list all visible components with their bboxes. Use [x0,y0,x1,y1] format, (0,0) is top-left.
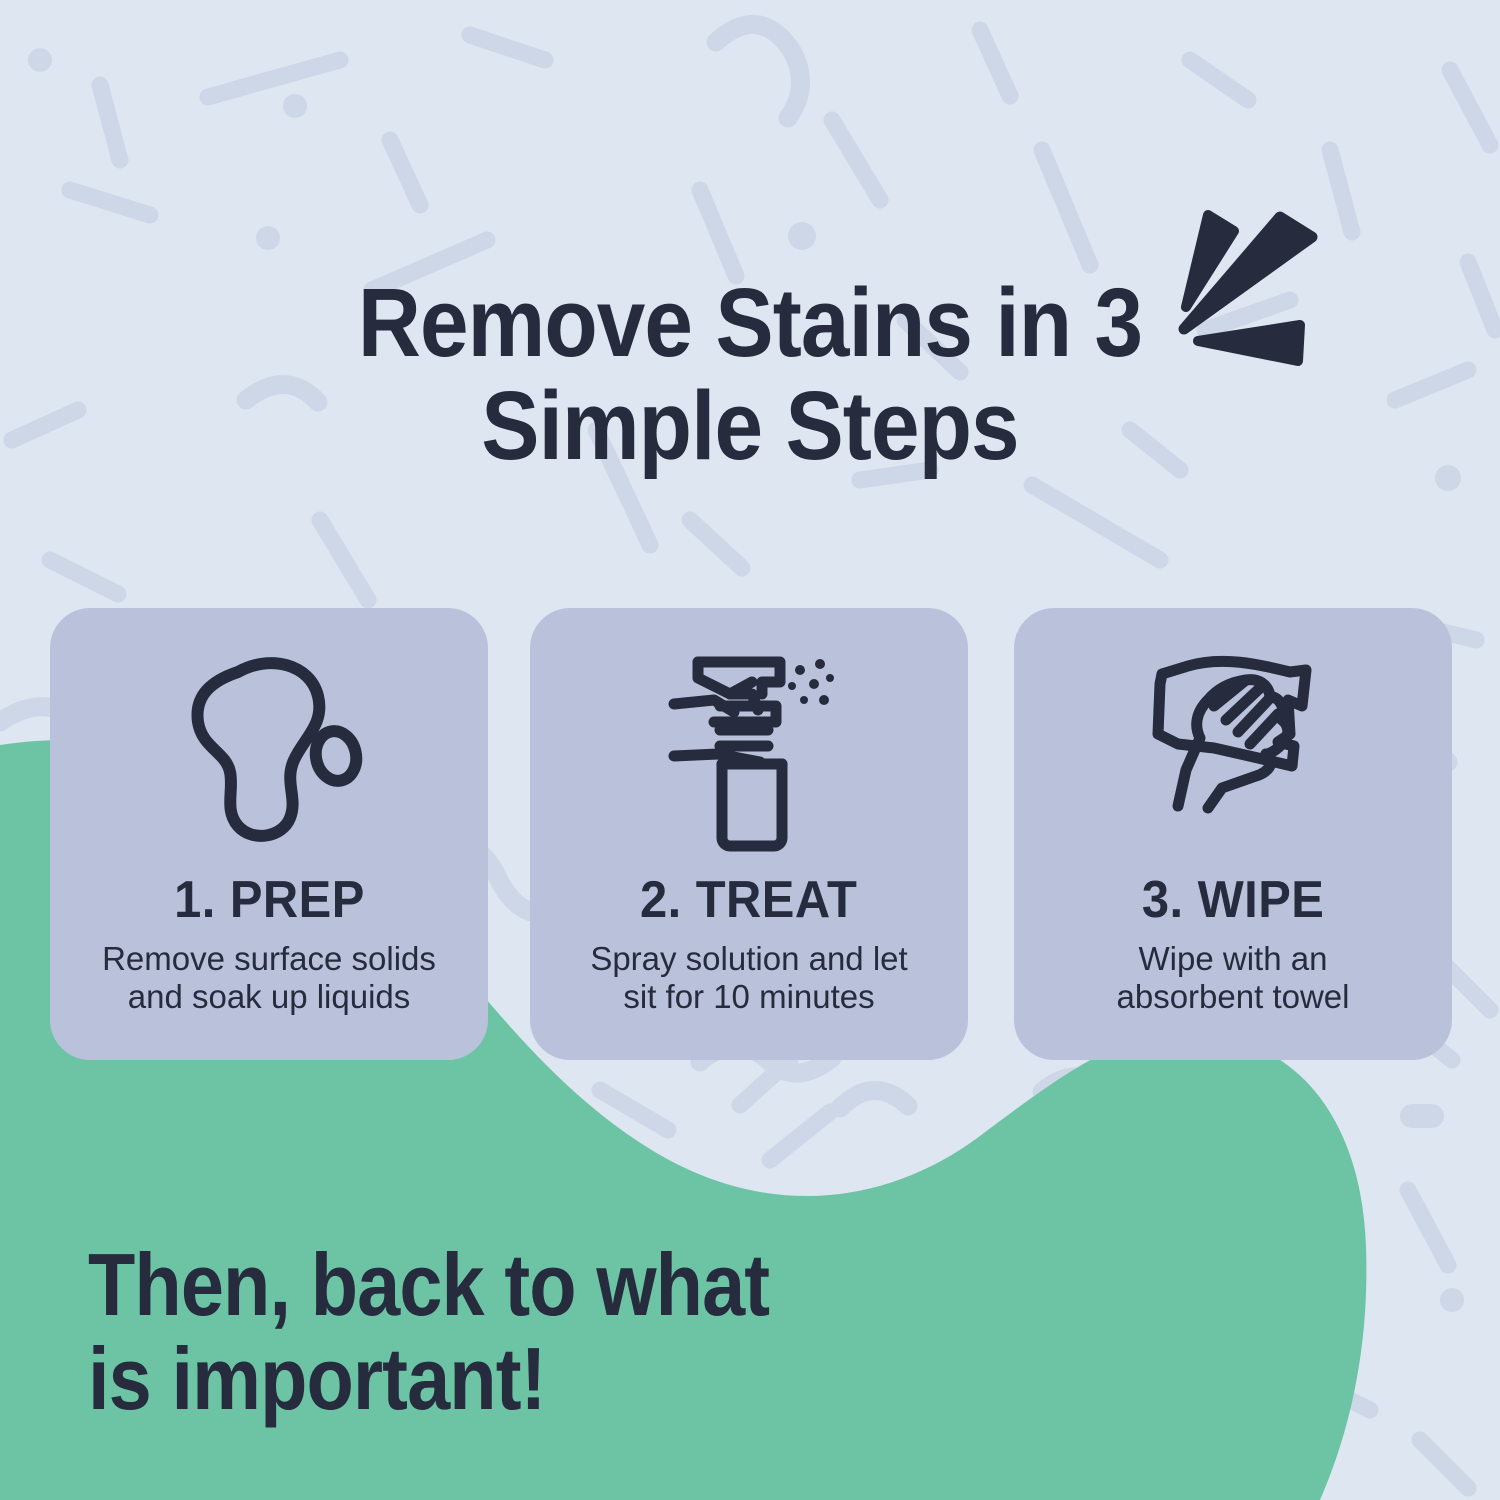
step-card-treat[interactable]: 2. TREAT Spray solution and let sit for … [530,608,968,1060]
step-card-prep[interactable]: 1. PREP Remove surface solids and soak u… [50,608,488,1060]
infographic-poster: Remove Stains in 3 Simple Steps 1. PREP … [0,0,1500,1500]
stain-blob-icon [154,638,384,868]
wiping-hand-cloth-icon [1118,638,1348,868]
spray-bottle-icon [634,638,864,868]
burst-rays-icon [1160,195,1350,380]
footer-tagline: Then, back to what is important! [88,1238,968,1426]
step-title: 2. TREAT [640,874,857,926]
step-description: Remove surface solids and soak up liquid… [88,940,450,1017]
step-card-wipe[interactable]: 3. WIPE Wipe with an absorbent towel [1014,608,1452,1060]
step-description: Wipe with an absorbent towel [1103,940,1364,1017]
step-title: 3. WIPE [1142,874,1325,926]
step-description: Spray solution and let sit for 10 minute… [576,940,921,1017]
step-title: 1. PREP [174,874,365,926]
